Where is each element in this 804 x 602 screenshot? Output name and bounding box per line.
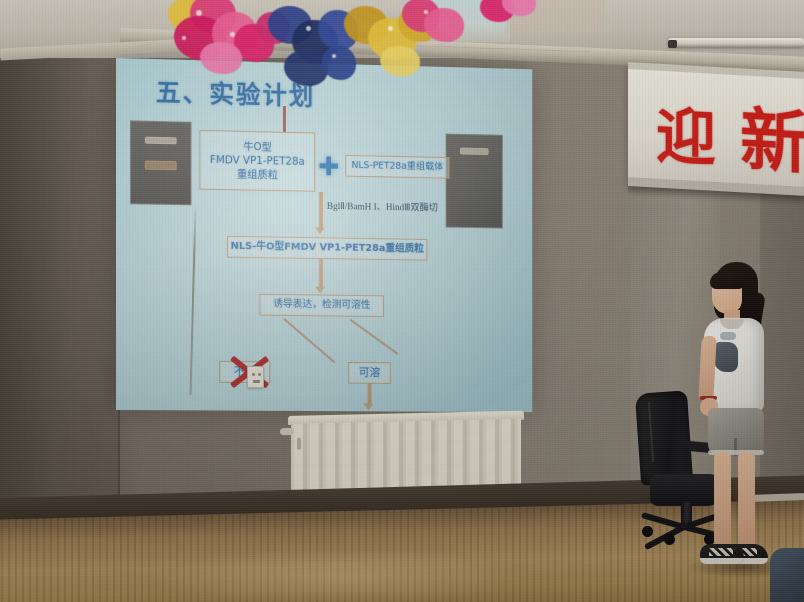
bangs [710,272,744,289]
sneaker-left [700,544,744,564]
projection-screen[interactable]: 五、实验计划 牛O型 FMDV VP1-PET28a 重组质粒 ✚ NLS-PE… [116,58,532,412]
classroom-photo: 五、实验计划 牛O型 FMDV VP1-PET28a 重组质粒 ✚ NLS-PE… [0,0,804,602]
plus-icon: ✚ [318,152,339,182]
foreground-object [770,548,804,602]
leg-right [738,452,755,550]
shirt-graphic-top [720,332,736,340]
tube-light-cap [668,40,677,48]
soluble-label: 可溶 [359,366,380,381]
tinsel-pink-right [398,0,478,56]
soluble-box[interactable]: 可溶 [348,362,391,384]
radiator-valve[interactable] [297,438,301,450]
wall-power-outlet[interactable] [247,366,264,388]
floor-light-reflection [150,548,530,602]
fluorescent-tube-light [668,38,804,47]
arrow-to-purification-head [364,403,374,410]
welcome-banner: 迎 新 [628,62,804,196]
leg-left [714,452,731,550]
plasmid-box-line-2: FMDV VP1-PET28a [210,153,305,169]
vector-box[interactable]: NLS-PET28a重组载体 [345,155,449,179]
title-accent-mark [283,106,286,132]
plasmid-box-line-1: 牛O型 [243,140,272,155]
banner-char-1: 迎 [656,88,716,178]
radiator-pipe-left [280,428,294,435]
plasmid-map-right [446,134,503,229]
vector-box-label: NLS-PET28a重组载体 [351,160,443,174]
presenter [690,262,786,602]
arrow-to-purification [368,384,372,406]
banner-char-2: 新 [740,84,804,187]
shirt-graphic [714,342,738,372]
tinsel-pink-far-right [480,0,550,32]
